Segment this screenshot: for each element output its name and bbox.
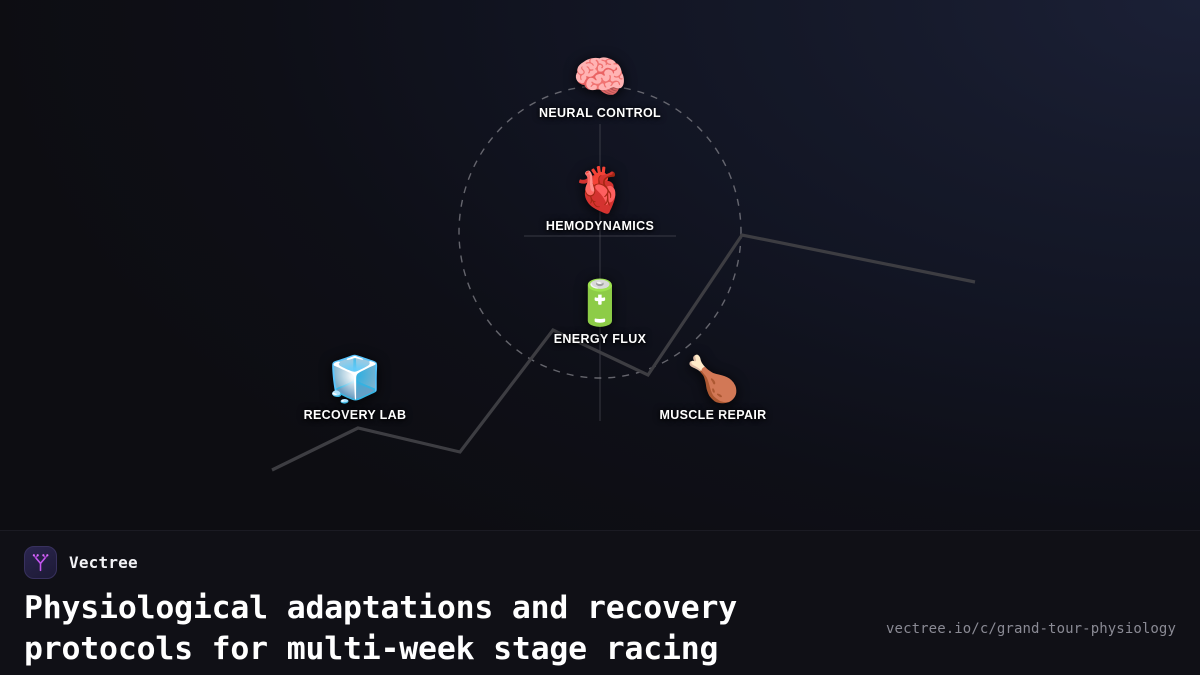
screenshot-root: 🧠 NEURAL CONTROL 🫀 HEMODYNAMICS 🔋 ENERGY…	[0, 0, 1200, 675]
graph-node-muscle-repair[interactable]: 🍗 MUSCLE REPAIR	[628, 354, 798, 422]
graph-node-label: MUSCLE REPAIR	[628, 408, 798, 422]
graph-node-label: HEMODYNAMICS	[515, 219, 685, 233]
graph-node-neural-control[interactable]: 🧠 NEURAL CONTROL	[515, 52, 685, 120]
graph-node-label: RECOVERY LAB	[270, 408, 440, 422]
battery-emoji: 🔋	[515, 278, 685, 330]
poultry-leg-emoji: 🍗	[628, 354, 798, 406]
brain-emoji: 🧠	[515, 52, 685, 104]
graph-canvas[interactable]: 🧠 NEURAL CONTROL 🫀 HEMODYNAMICS 🔋 ENERGY…	[0, 0, 1200, 530]
footer-url: vectree.io/c/grand-tour-physiology	[886, 621, 1176, 637]
ice-cube-emoji: 🧊	[270, 354, 440, 406]
anatomical-heart-emoji: 🫀	[515, 165, 685, 217]
graph-node-recovery-lab[interactable]: 🧊 RECOVERY LAB	[270, 354, 440, 422]
graph-node-label: NEURAL CONTROL	[515, 106, 685, 120]
trend-polyline	[272, 235, 975, 470]
brand-name: Vectree	[69, 553, 138, 572]
brand-row[interactable]: Vectree	[24, 546, 138, 579]
vectree-tree-logo-icon	[24, 546, 57, 579]
graph-node-label: ENERGY FLUX	[515, 332, 685, 346]
graph-node-hemodynamics[interactable]: 🫀 HEMODYNAMICS	[515, 165, 685, 233]
graph-node-energy-flux[interactable]: 🔋 ENERGY FLUX	[515, 278, 685, 346]
footer-bar: Vectree Physiological adaptations and re…	[0, 530, 1200, 675]
page-title: Physiological adaptations and recovery p…	[24, 588, 874, 670]
